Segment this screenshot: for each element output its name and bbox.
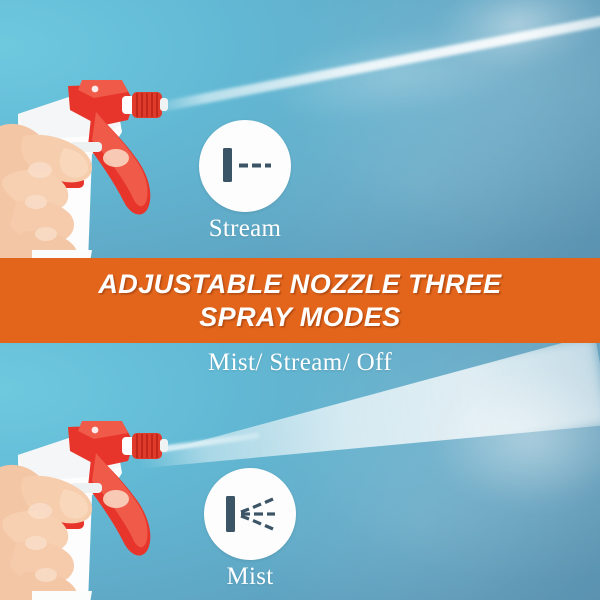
promo-banner: ADJUSTABLE NOZZLE THREE SPRAY MODES <box>0 258 600 344</box>
product-infographic: Stream ADJUSTABLE NOZZLE THREE SPRAY MOD… <box>0 0 600 600</box>
banner-headline-line1: ADJUSTABLE NOZZLE THREE <box>98 268 501 301</box>
mode-badge-stream: Stream <box>199 120 291 243</box>
mist-label: Mist <box>204 563 296 591</box>
stream-nozzle-icon <box>199 120 291 212</box>
spray-bottle-with-hand-bottom <box>0 403 206 600</box>
mode-badge-mist: Mist <box>204 468 296 591</box>
stream-label: Stream <box>199 215 291 243</box>
banner-headline-line2: SPRAY MODES <box>199 301 400 334</box>
mist-nozzle-icon <box>204 468 296 560</box>
panel-stream: Stream <box>0 0 600 262</box>
mist-icon-circle <box>204 468 296 560</box>
spray-modes-subtitle: Mist/ Stream/ Off <box>0 349 600 377</box>
spray-bottle-with-hand-top <box>0 62 206 262</box>
panel-mist: Mist <box>0 343 600 600</box>
spray-bottle-illustration <box>0 403 206 600</box>
stream-icon-circle <box>199 120 291 212</box>
spray-bottle-illustration <box>0 62 206 262</box>
